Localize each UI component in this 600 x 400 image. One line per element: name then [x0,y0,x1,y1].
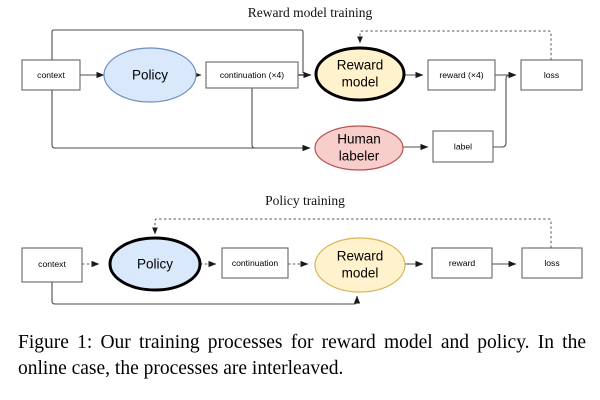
node-label-reward-model-bottom-line1: Reward [337,249,384,264]
connector-continuation-to-human-labeler [252,88,310,148]
node-label-reward: reward (×4) [439,70,483,80]
node-reward-model-top[interactable]: Reward model [316,48,404,100]
connector-context-to-human-labeler [52,90,310,148]
node-context-bottom[interactable]: context [22,248,82,282]
node-label-policy: Policy [132,68,168,83]
section-policy-training: Policy training context Policy [22,193,582,304]
node-policy-top[interactable]: Policy [104,48,196,102]
node-label-human-line1: Human [337,132,381,147]
node-reward-top[interactable]: reward (×4) [428,60,495,90]
node-continuation-bottom[interactable]: continuation [222,248,288,278]
training-process-diagram: Reward model training [0,0,600,325]
node-label-loss: loss [544,70,559,80]
node-label-label: label [454,141,472,151]
node-label-human-line2: labeler [339,149,380,164]
connector-context-to-reward-model-bottom [52,282,357,304]
node-label[interactable]: label [433,131,493,162]
node-label-continuation-bottom: continuation [232,258,279,268]
section-title-reward-model-training: Reward model training [248,5,373,20]
node-label-reward-bottom: reward [449,258,475,268]
figure-caption: Figure 1: Our training processes for rew… [18,330,586,382]
node-continuation-top[interactable]: continuation (×4) [206,62,298,88]
node-label-policy-bottom: Policy [137,257,173,272]
node-reward-model-bottom[interactable]: Reward model [315,238,405,292]
node-reward-bottom[interactable]: reward [432,248,492,278]
node-label-loss-bottom: loss [544,258,559,268]
node-loss-top[interactable]: loss [521,60,582,90]
node-policy-bottom[interactable]: Policy [110,238,200,290]
node-human-labeler[interactable]: Human labeler [315,126,403,170]
node-label-context: context [37,70,65,80]
node-label-reward-model-line1: Reward [337,58,384,73]
node-label-reward-model-bottom-line2: model [342,266,379,281]
node-label-context-bottom: context [38,259,66,269]
node-label-continuation: continuation (×4) [220,70,284,80]
node-label-reward-model-line2: model [342,75,379,90]
node-context-top[interactable]: context [22,60,80,90]
node-loss-bottom[interactable]: loss [522,248,582,278]
connector-label-to-loss [493,75,516,147]
section-reward-model-training: Reward model training [22,5,582,170]
figure-container: Reward model training [0,0,600,400]
section-title-policy-training: Policy training [265,193,345,208]
